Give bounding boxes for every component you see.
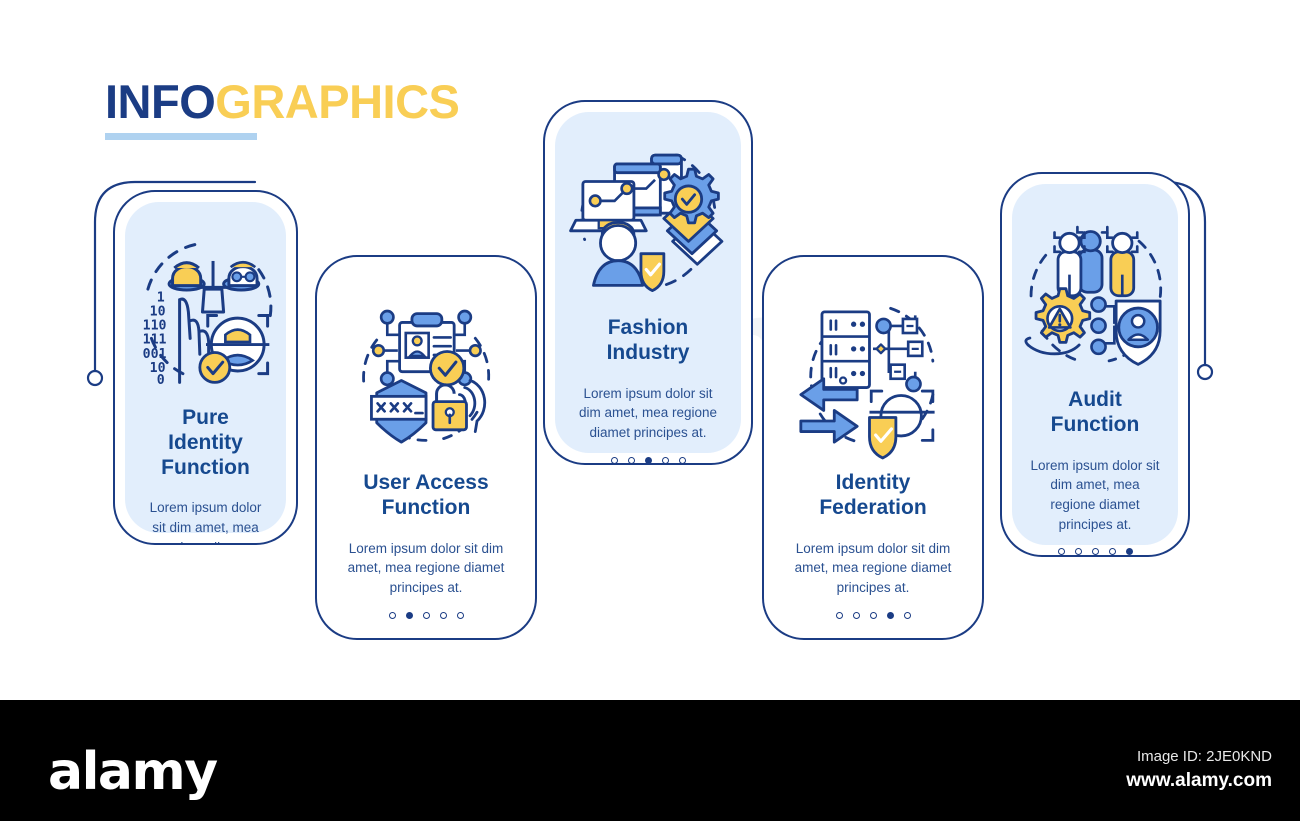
step-dot-3[interactable]	[423, 612, 430, 619]
alamy-logo: alamy	[48, 746, 217, 798]
step-dot-1[interactable]	[836, 612, 843, 619]
card-user-access-function[interactable]: User Access Function Lorem ipsum dolor s…	[315, 255, 537, 640]
card-heading: Identity Federation	[792, 471, 954, 521]
step-dot-5[interactable]	[457, 612, 464, 619]
page-title: INFOGRAPHICS	[105, 78, 459, 125]
user-access-credential-icon	[338, 289, 514, 465]
card-heading: Fashion Industry	[573, 316, 723, 366]
step-dot-4[interactable]	[887, 612, 894, 619]
card-body: Lorem ipsum dolor sit dim amet, mea regi…	[792, 539, 954, 598]
footer-url-text: www.alamy.com	[1126, 770, 1272, 792]
step-indicator[interactable]	[1058, 534, 1133, 555]
card-audit-function[interactable]: Audit Function Lorem ipsum dolor sit dim…	[1000, 172, 1190, 557]
pure-identity-biometric-icon: 1 10 110 111 001 10 0	[118, 224, 294, 400]
image-id-text: Image ID: 2JE0KND	[1126, 748, 1272, 765]
title-underline	[105, 133, 257, 140]
svg-text:001: 001	[142, 347, 166, 362]
svg-text:111: 111	[142, 333, 166, 348]
step-indicator[interactable]	[389, 598, 464, 619]
audit-function-people-icon	[1007, 206, 1183, 382]
card-body: Lorem ipsum dolor sit dim amet, mea regi…	[345, 539, 507, 598]
page-title-part1: INFO	[105, 75, 215, 128]
step-dot-4[interactable]	[1109, 548, 1116, 555]
step-dot-1[interactable]	[1058, 548, 1065, 555]
card-body: Lorem ipsum dolor sit dim amet, mea regi…	[143, 498, 268, 545]
step-dot-2[interactable]	[406, 612, 413, 619]
card-heading: Audit Function	[1030, 388, 1160, 438]
svg-text:10: 10	[149, 305, 165, 320]
alamy-footer-bar: alamy Image ID: 2JE0KND www.alamy.com	[0, 700, 1300, 821]
step-dot-4[interactable]	[662, 457, 669, 464]
card-body: Lorem ipsum dolor sit dim amet, mea regi…	[573, 384, 723, 443]
step-dot-5[interactable]	[679, 457, 686, 464]
step-indicator[interactable]	[611, 443, 686, 464]
card-heading: User Access Function	[345, 471, 507, 521]
card-identity-federation[interactable]: Identity Federation Lorem ipsum dolor si…	[762, 255, 984, 640]
step-dot-5[interactable]	[1126, 548, 1133, 555]
identity-federation-server-icon	[785, 289, 961, 465]
step-dot-2[interactable]	[628, 457, 635, 464]
page-title-part2: GRAPHICS	[215, 75, 459, 128]
step-dot-3[interactable]	[645, 457, 652, 464]
card-pure-identity-function[interactable]: 1 10 110 111 001 10 0	[113, 190, 298, 545]
svg-text:0: 0	[156, 373, 164, 388]
step-dot-1[interactable]	[611, 457, 618, 464]
card-fashion-industry[interactable]: Fashion Industry Lorem ipsum dolor sit d…	[543, 100, 753, 465]
infographic-canvas: alamy	[0, 0, 1300, 700]
step-dot-4[interactable]	[440, 612, 447, 619]
step-dot-3[interactable]	[1092, 548, 1099, 555]
title-block: INFOGRAPHICS	[105, 78, 459, 140]
svg-text:1: 1	[156, 290, 164, 305]
step-dot-2[interactable]	[1075, 548, 1082, 555]
step-dot-2[interactable]	[853, 612, 860, 619]
card-body: Lorem ipsum dolor sit dim amet, mea regi…	[1030, 456, 1160, 535]
svg-text:110: 110	[142, 319, 166, 334]
card-heading: Pure Identity Function	[143, 406, 268, 480]
step-dot-5[interactable]	[904, 612, 911, 619]
step-dot-3[interactable]	[870, 612, 877, 619]
step-dot-1[interactable]	[389, 612, 396, 619]
fashion-industry-devices-icon	[560, 134, 736, 310]
step-indicator[interactable]	[836, 598, 911, 619]
footer-meta: Image ID: 2JE0KND www.alamy.com	[1126, 748, 1272, 792]
